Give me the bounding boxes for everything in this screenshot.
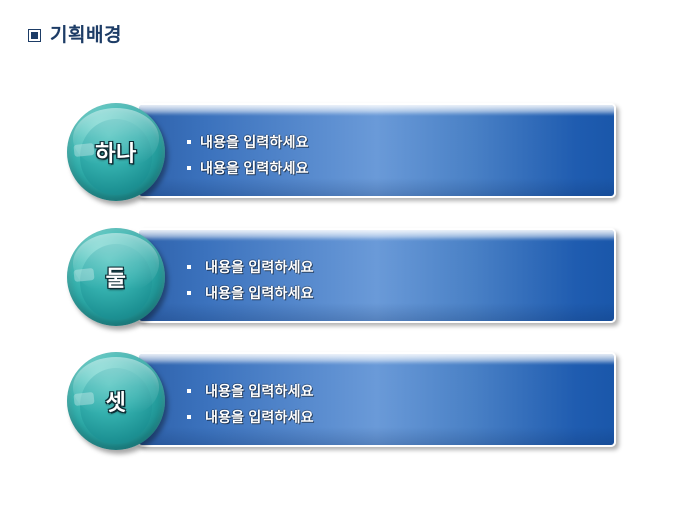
- list-item-label: 내용을 입력하세요: [205, 381, 314, 401]
- bullet-point-icon: [187, 265, 191, 269]
- list-item[interactable]: 내용을 입력하세요: [187, 129, 604, 155]
- step-badge[interactable]: 둘: [67, 228, 165, 326]
- step-badge[interactable]: 셋: [67, 352, 165, 450]
- list-item-label: 내용을 입력하세요: [200, 158, 309, 178]
- content-row: 내용을 입력하세요 내용을 입력하세요 둘: [0, 221, 680, 331]
- list-item-label: 내용을 입력하세요: [200, 132, 309, 152]
- bullet-point-icon: [187, 389, 191, 393]
- list-item[interactable]: 내용을 입력하세요: [187, 280, 604, 306]
- list-item[interactable]: 내용을 입력하세요: [187, 378, 604, 404]
- list-item[interactable]: 내용을 입력하세요: [187, 404, 604, 430]
- bullet-point-icon: [187, 291, 191, 295]
- step-badge-label: 둘: [67, 228, 165, 326]
- content-bar[interactable]: 내용을 입력하세요 내용을 입력하세요: [137, 352, 616, 447]
- list-item-label: 내용을 입력하세요: [205, 283, 314, 303]
- list-item[interactable]: 내용을 입력하세요: [187, 254, 604, 280]
- content-bar[interactable]: 내용을 입력하세요 내용을 입력하세요: [137, 103, 616, 198]
- list-item[interactable]: 내용을 입력하세요: [187, 155, 604, 181]
- bullet-point-icon: [187, 166, 191, 170]
- list-item-label: 내용을 입력하세요: [205, 407, 314, 427]
- bullet-point-icon: [187, 415, 191, 419]
- page-title-text: 기획배경: [50, 26, 122, 45]
- content-row: 내용을 입력하세요 내용을 입력하세요 하나: [0, 96, 680, 206]
- step-badge-label: 하나: [67, 103, 165, 201]
- step-badge-label: 셋: [67, 352, 165, 450]
- square-bullet-icon: [28, 29, 41, 42]
- list-item-label: 내용을 입력하세요: [205, 257, 314, 277]
- page-title: 기획배경: [28, 26, 122, 45]
- content-bar[interactable]: 내용을 입력하세요 내용을 입력하세요: [137, 228, 616, 323]
- bullet-list: 내용을 입력하세요 내용을 입력하세요: [187, 254, 604, 306]
- bullet-list: 내용을 입력하세요 내용을 입력하세요: [187, 378, 604, 430]
- content-row: 내용을 입력하세요 내용을 입력하세요 셋: [0, 345, 680, 455]
- bullet-list: 내용을 입력하세요 내용을 입력하세요: [187, 129, 604, 181]
- bullet-point-icon: [187, 140, 191, 144]
- step-badge[interactable]: 하나: [67, 103, 165, 201]
